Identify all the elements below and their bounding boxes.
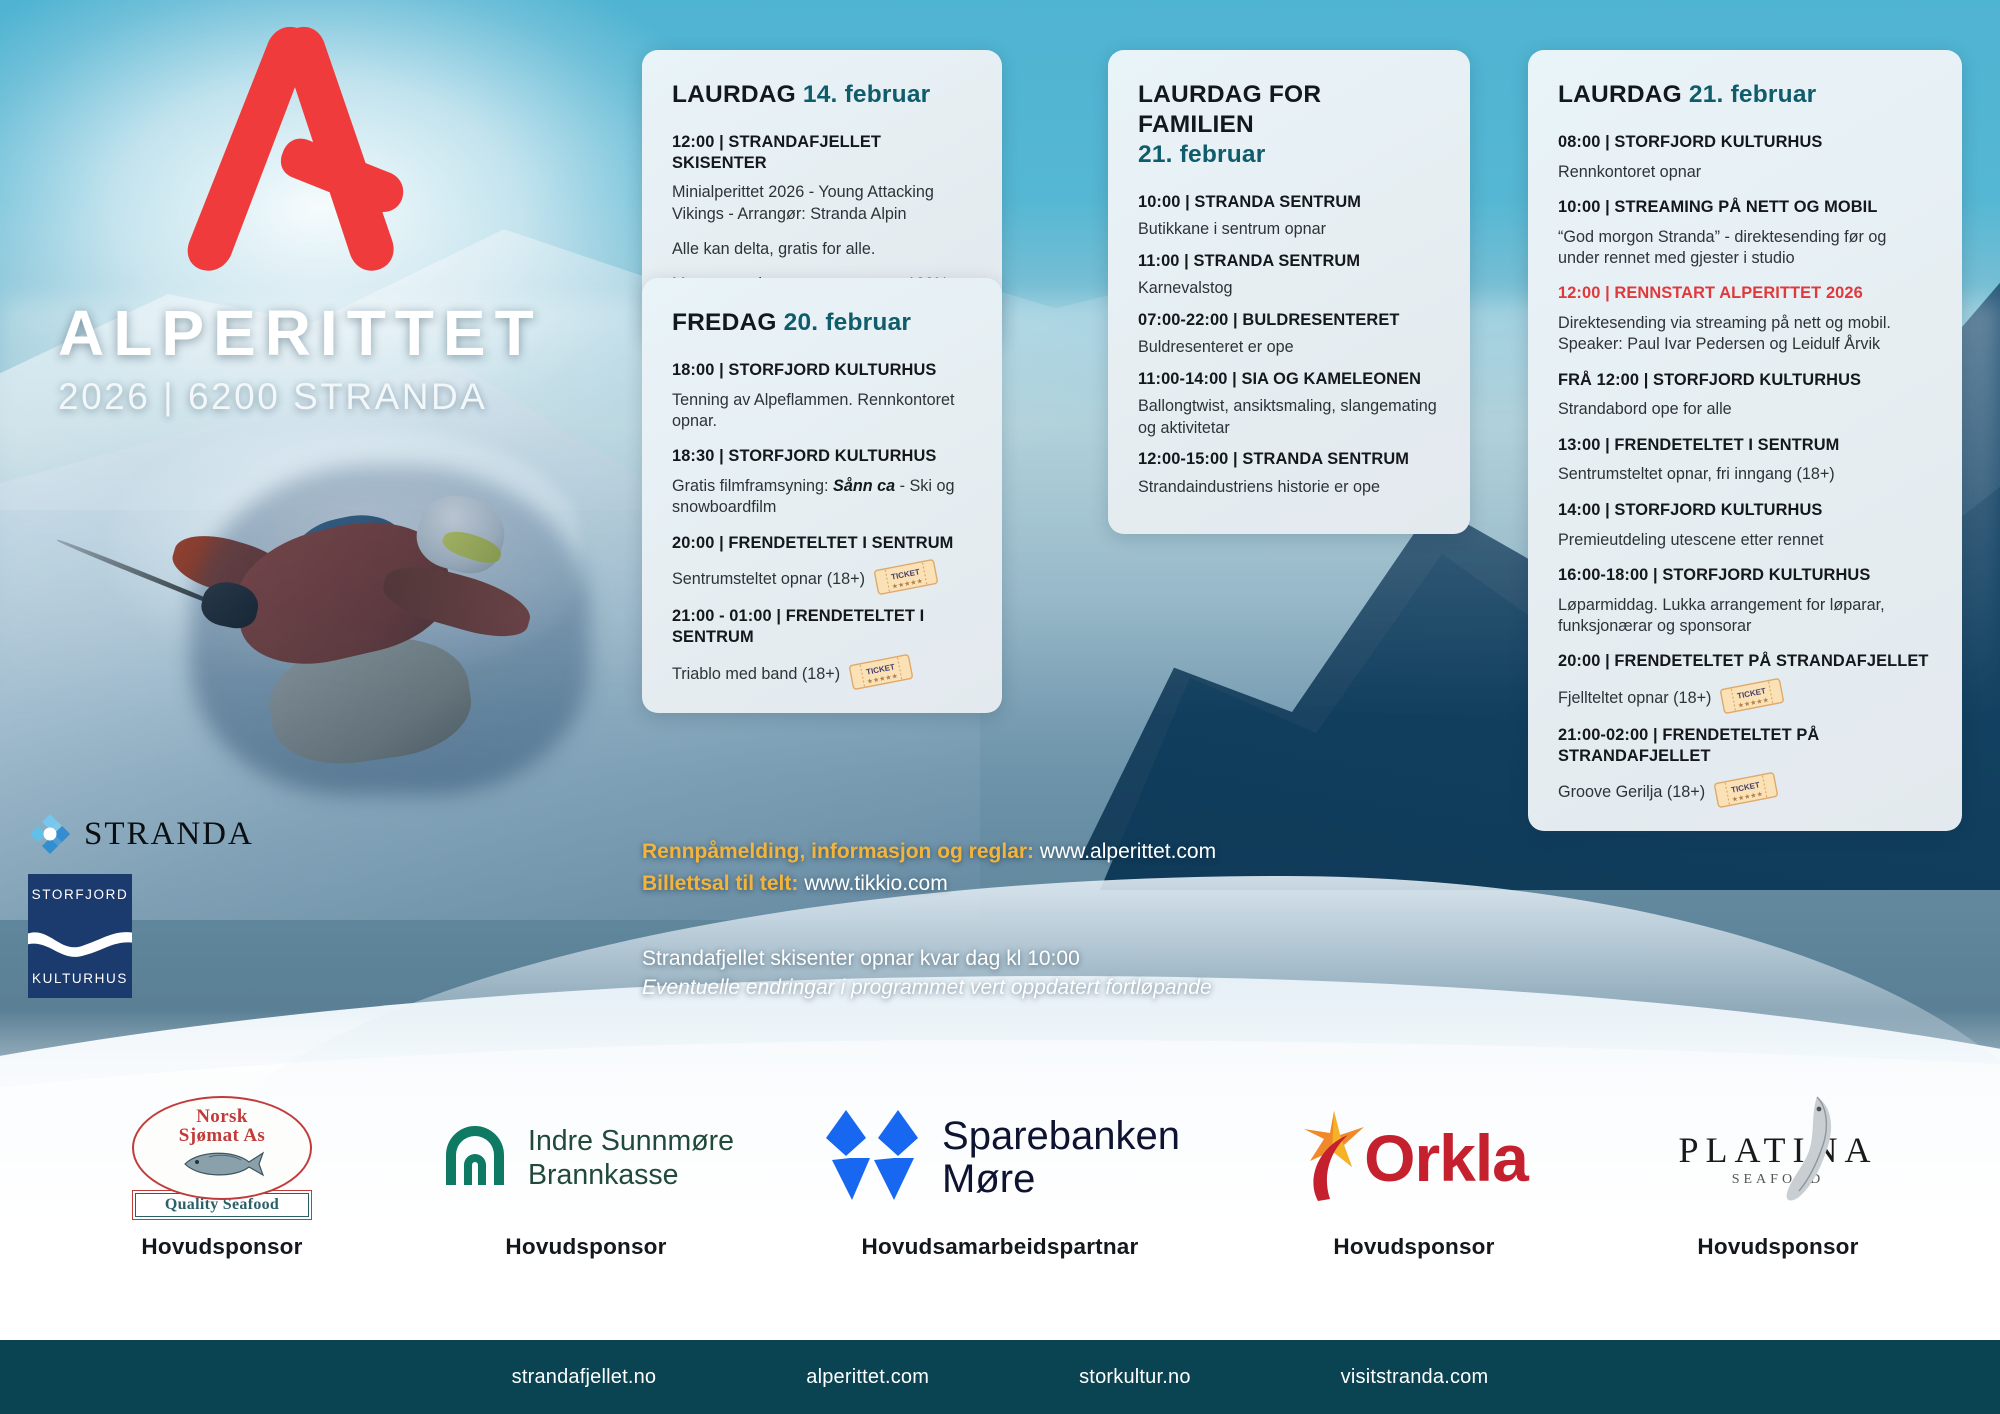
event-item: 08:00 | STORFJORD KULTURHUS Rennkontoret…: [1558, 132, 1932, 183]
registration-label: Rennpåmelding, informasjon og reglar:: [642, 840, 1034, 863]
sponsor-indre-sunnmore: Indre Sunnmøre Brannkasse Hovudsponsor: [436, 1090, 736, 1260]
norsk-sjomat-line1: Norsk: [196, 1107, 248, 1126]
star-swoosh-icon: [1300, 1109, 1370, 1208]
registration-url[interactable]: www.alperittet.com: [1034, 840, 1216, 863]
sponsor-caption: Hovudsamarbeidspartnar: [862, 1234, 1139, 1260]
event-item: 18:00 | STORFJORD KULTURHUS Tenning av A…: [672, 360, 972, 432]
fish-icon: [179, 1148, 265, 1183]
stranda-star-icon: [28, 812, 72, 856]
event-heading: 16:00-18:00 | STORFJORD KULTURHUS: [1558, 565, 1932, 586]
ticket-sales-url[interactable]: www.tikkio.com: [798, 872, 947, 895]
sponsor-sparebanken-more: Sparebanken Møre Hovudsamarbeidspartnar: [800, 1090, 1200, 1260]
event-item: 14:00 | STORFJORD KULTURHUS Premieutdeli…: [1558, 500, 1932, 551]
event-item: 10:00 | STREAMING PÅ NETT OG MOBIL “God …: [1558, 197, 1932, 269]
event-description: Karnevalstog: [1138, 278, 1440, 299]
event-description: Løparmiddag. Lukka arrangement for løpar…: [1558, 595, 1932, 638]
ticket-icon: TICKET★★★★★: [1719, 675, 1786, 716]
ticket-icon: TICKET★★★★★: [873, 557, 940, 598]
event-heading: 08:00 | STORFJORD KULTURHUS: [1558, 132, 1932, 153]
skier-shading: [190, 465, 590, 795]
sparebanken-line1: Sparebanken: [942, 1114, 1180, 1158]
arch-icon: [438, 1119, 512, 1198]
event-heading: 11:00-14:00 | SIA OG KAMELEONEN: [1138, 369, 1440, 390]
orkla-wordmark: Orkla: [1364, 1120, 1528, 1196]
norsk-sjomat-line2: Sjømat As: [179, 1126, 265, 1145]
program-card-friday-20: FREDAG 20. februar 18:00 | STORFJORD KUL…: [642, 278, 1002, 713]
sponsor-strip: Norsk Sjømat As Quality Seafood: [0, 1090, 2000, 1340]
sponsor-platina: PLATINA SEAFOOD Hovudsponsor: [1628, 1090, 1928, 1260]
event-description: Tenning av Alpeflammen. Rennkontoret opn…: [672, 390, 972, 433]
event-description: Buldresenteret er ope: [1138, 337, 1440, 358]
event-description: “God morgon Stranda” - direktesending fø…: [1558, 227, 1932, 270]
sparebanken-line2: Møre: [942, 1157, 1035, 1201]
event-description: Fjellteltet opnar (18+)TICKET★★★★★: [1558, 681, 1932, 711]
ticket-sales-label: Billettsal til telt:: [642, 872, 798, 895]
film-title: Sånn ca: [833, 477, 895, 495]
event-item: 12:00 | STRANDAFJELLET SKISENTER Minialp…: [672, 132, 972, 225]
event-description: Minialperittet 2026 - Young Attacking Vi…: [672, 182, 972, 225]
footer-link-alperittet[interactable]: alperittet.com: [806, 1366, 929, 1389]
event-item: FRÅ 12:00 | STORFJORD KULTURHUS Strandab…: [1558, 370, 1932, 421]
norsk-sjomat-logo: Norsk Sjømat As Quality Seafood: [127, 1090, 317, 1226]
brand-block: ALPERITTET 2026 | 6200 STRANDA: [58, 22, 528, 418]
municipal-logos: STRANDA STORFJORD KULTURHUS: [28, 812, 308, 998]
footer-bar: strandafjellet.no alperittet.com storkul…: [0, 1340, 2000, 1414]
platina-logo: PLATINA SEAFOOD: [1679, 1090, 1878, 1226]
event-item: 16:00-18:00 | STORFJORD KULTURHUS Løparm…: [1558, 565, 1932, 637]
kulturhus-top-label: STORFJORD: [28, 887, 132, 902]
sponsor-caption: Hovudsponsor: [141, 1234, 302, 1260]
event-item: 21:00-02:00 | FRENDETELTET PÅ STRANDAFJE…: [1558, 725, 1932, 805]
orkla-logo: Orkla: [1300, 1090, 1528, 1226]
event-description: Premieutdeling utescene etter rennet: [1558, 530, 1932, 551]
card-title: LAURDAG FOR FAMILIEN21. februar: [1138, 80, 1440, 170]
footer-link-storkultur[interactable]: storkultur.no: [1079, 1366, 1191, 1389]
sponsor-caption: Hovudsponsor: [1333, 1234, 1494, 1260]
event-item: 20:00 | FRENDETELTET I SENTRUM Sentrumst…: [672, 533, 972, 593]
sparebanken-more-logo: Sparebanken Møre: [820, 1090, 1180, 1226]
event-description: Butikkane i sentrum opnar: [1138, 219, 1440, 240]
event-heading: FRÅ 12:00 | STORFJORD KULTURHUS: [1558, 370, 1932, 391]
event-item: 10:00 | STRANDA SENTRUM Butikkane i sent…: [1138, 192, 1440, 241]
event-description: Rennkontoret opnar: [1558, 162, 1932, 183]
alperittet-a-mark-icon: [178, 22, 408, 302]
storfjord-wave-icon: [28, 920, 132, 960]
platina-wordmark: PLATINA: [1679, 1129, 1878, 1171]
stranda-logo: STRANDA: [28, 812, 308, 856]
event-description: Strandabord ope for alle: [1558, 399, 1932, 420]
event-heading: 18:00 | STORFJORD KULTURHUS: [672, 360, 972, 381]
card-title: FREDAG 20. februar: [672, 308, 972, 338]
kulturhus-bottom-label: KULTURHUS: [28, 971, 132, 986]
event-heading: 13:00 | FRENDETELTET I SENTRUM: [1558, 435, 1932, 456]
card-title: LAURDAG 21. februar: [1558, 80, 1932, 110]
program-card-saturday-21: LAURDAG 21. februar 08:00 | STORFJORD KU…: [1528, 50, 1962, 831]
event-description: Direktesending via streaming på nett og …: [1558, 313, 1932, 356]
ticket-sales-line: Billettsal til telt: www.tikkio.com: [642, 868, 1402, 900]
registration-line: Rennpåmelding, informasjon og reglar: ww…: [642, 836, 1402, 868]
event-description: Sentrumsteltet opnar (18+)TICKET★★★★★: [672, 562, 972, 592]
diamond-icon: [820, 1104, 924, 1213]
event-item: 18:30 | STORFJORD KULTURHUS Gratis filmf…: [672, 446, 972, 518]
poster-canvas: ALPERITTET 2026 | 6200 STRANDA: [0, 0, 2000, 1414]
info-block: Rennpåmelding, informasjon og reglar: ww…: [642, 836, 1402, 1000]
event-heading: 20:00 | FRENDETELTET PÅ STRANDAFJELLET: [1558, 651, 1932, 672]
event-heading: 21:00-02:00 | FRENDETELTET PÅ STRANDAFJE…: [1558, 725, 1932, 766]
brand-title: ALPERITTET: [58, 296, 528, 370]
event-description: Triablo med band (18+)TICKET★★★★★: [672, 657, 972, 687]
salmon-icon: [1783, 1093, 1843, 1218]
event-heading: 20:00 | FRENDETELTET I SENTRUM: [672, 533, 972, 554]
event-item: Alle kan delta, gratis for alle.: [672, 239, 972, 260]
brand-subtitle: 2026 | 6200 STRANDA: [58, 376, 528, 418]
indre-sunnmore-logo: Indre Sunnmøre Brannkasse: [438, 1090, 734, 1226]
event-item: 13:00 | FRENDETELTET I SENTRUM Sentrumst…: [1558, 435, 1932, 486]
sponsor-orkla: Orkla Hovudsponsor: [1264, 1090, 1564, 1260]
storfjord-kulturhus-logo: STORFJORD KULTURHUS: [28, 874, 132, 998]
card-title: LAURDAG 14. februar: [672, 80, 972, 110]
event-item: 20:00 | FRENDETELTET PÅ STRANDAFJELLET F…: [1558, 651, 1932, 711]
event-heading: 10:00 | STRANDA SENTRUM: [1138, 192, 1440, 213]
event-heading: 07:00-22:00 | BULDRESENTERET: [1138, 310, 1440, 331]
event-description: Ballongtwist, ansiktsmaling, slangematin…: [1138, 396, 1440, 439]
info-notes: Strandafjellet skisenter opnar kvar dag …: [642, 947, 1402, 1000]
event-description: Strandaindustriens historie er ope: [1138, 477, 1440, 498]
event-heading-highlight: 12:00 | RENNSTART ALPERITTET 2026: [1558, 283, 1932, 304]
stranda-label: STRANDA: [84, 816, 254, 853]
sponsor-caption: Hovudsponsor: [1697, 1234, 1858, 1260]
program-change-note: Eventuelle endringar i programmet vert o…: [642, 976, 1402, 1000]
event-item: 21:00 - 01:00 | FRENDETELTET I SENTRUM T…: [672, 606, 972, 686]
event-description: Sentrumsteltet opnar, fri inngang (18+): [1558, 464, 1932, 485]
program-card-family-saturday: LAURDAG FOR FAMILIEN21. februar 10:00 | …: [1108, 50, 1470, 534]
event-item: 07:00-22:00 | BULDRESENTERET Buldresente…: [1138, 310, 1440, 359]
sponsor-caption: Hovudsponsor: [505, 1234, 666, 1260]
event-heading: 18:30 | STORFJORD KULTURHUS: [672, 446, 972, 467]
indre-sunnmore-line2: Brannkasse: [528, 1159, 679, 1191]
event-heading: 12:00-15:00 | STRANDA SENTRUM: [1138, 449, 1440, 470]
footer-link-visitstranda[interactable]: visitstranda.com: [1341, 1366, 1489, 1389]
footer-link-strandafjellet[interactable]: strandafjellet.no: [512, 1366, 657, 1389]
event-item: 12:00-15:00 | STRANDA SENTRUM Strandaind…: [1138, 449, 1440, 498]
event-item: 11:00-14:00 | SIA OG KAMELEONEN Ballongt…: [1138, 369, 1440, 439]
sponsor-norsk-sjomat: Norsk Sjømat As Quality Seafood: [72, 1090, 372, 1260]
event-heading: 21:00 - 01:00 | FRENDETELTET I SENTRUM: [672, 606, 972, 647]
event-heading: 10:00 | STREAMING PÅ NETT OG MOBIL: [1558, 197, 1932, 218]
skier-photo: [150, 455, 580, 795]
event-heading: 11:00 | STRANDA SENTRUM: [1138, 251, 1440, 272]
event-description: Alle kan delta, gratis for alle.: [672, 239, 972, 260]
ticket-icon: TICKET★★★★★: [1713, 770, 1780, 811]
event-description: Gratis filmframsyning: Sånn ca - Ski og …: [672, 476, 972, 519]
ticket-icon: TICKET★★★★★: [848, 651, 915, 692]
event-description: Groove Gerilja (18+)TICKET★★★★★: [1558, 775, 1932, 805]
opening-hours-note: Strandafjellet skisenter opnar kvar dag …: [642, 947, 1402, 971]
event-heading: 14:00 | STORFJORD KULTURHUS: [1558, 500, 1932, 521]
platina-subtitle: SEAFOOD: [1679, 1172, 1878, 1188]
event-item: 11:00 | STRANDA SENTRUM Karnevalstog: [1138, 251, 1440, 300]
indre-sunnmore-line1: Indre Sunnmøre: [528, 1125, 734, 1157]
event-item: 12:00 | RENNSTART ALPERITTET 2026 Direkt…: [1558, 283, 1932, 355]
event-heading: 12:00 | STRANDAFJELLET SKISENTER: [672, 132, 972, 173]
